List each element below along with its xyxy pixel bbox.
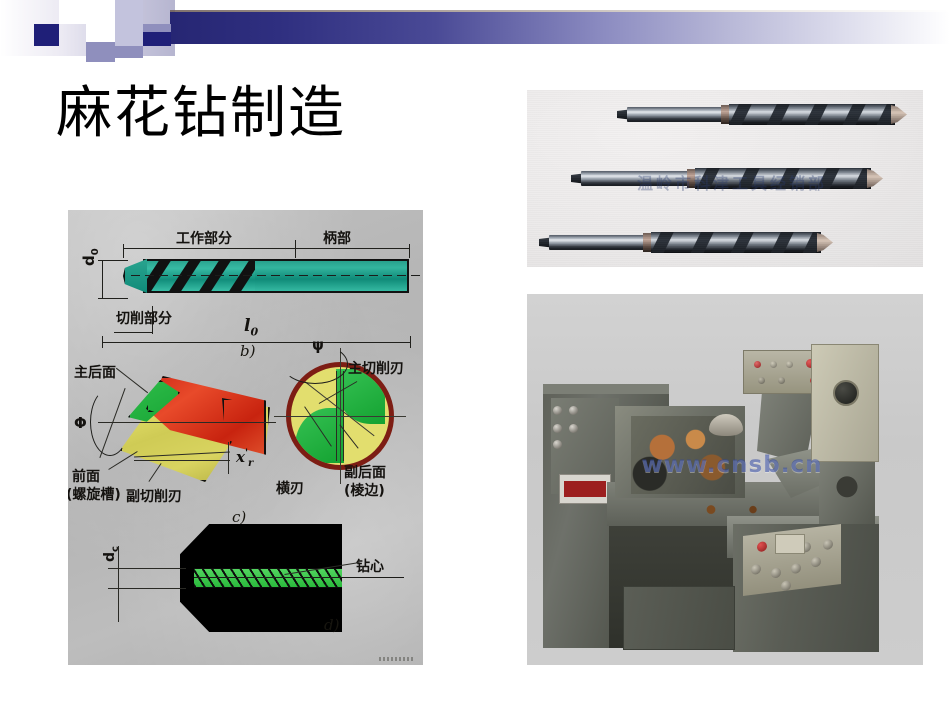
label-l0: l0: [244, 316, 258, 338]
label-d0-sub: 0: [90, 248, 101, 255]
drill-twist-groove: [771, 168, 804, 189]
label-minor-cutting-edge: 副切削刃: [126, 486, 182, 506]
label-major-flank: 主后面: [74, 362, 116, 382]
dimline-working-part: [123, 248, 295, 249]
label-minor-edge-angle: x'r: [236, 448, 253, 469]
dimline-shank: [295, 248, 409, 249]
dimtick-l0-right: [410, 336, 411, 348]
header-gradient-bar: [170, 12, 950, 44]
header-decoration: [0, 0, 950, 70]
label-working-part: 工作部分: [176, 228, 232, 248]
drill-twist-groove: [811, 168, 844, 189]
machine-cabinet-dial: [833, 380, 859, 406]
label-major-cutting-edge: 主切削刃: [348, 358, 404, 378]
label-drill-core: 钻心: [356, 556, 384, 576]
machine-access-door: [623, 586, 735, 650]
label-d0: d0: [80, 248, 101, 266]
scan-artifact-text: [379, 657, 415, 661]
machine-control-button: [778, 377, 785, 384]
header-square-navy: [34, 24, 59, 46]
machine-control-button: [770, 361, 777, 368]
twist-drill-item: [539, 232, 837, 253]
machine-control-button: [754, 361, 761, 368]
technical-figure-scan: 工作部分 柄部 d0 切削部分: [68, 210, 423, 665]
machine-tailstock: [819, 462, 875, 524]
machine-left-base-top: [543, 384, 669, 394]
machine-operator-button: [791, 563, 801, 574]
caption-d: d): [324, 616, 339, 634]
drill-twist-groove: [729, 104, 756, 125]
drill-twist-groove: [731, 168, 764, 189]
dimtick-l0-left: [102, 336, 103, 348]
label-web-angle: ψ: [312, 336, 324, 354]
drill-point: [867, 169, 883, 188]
drill-fluted-body: [695, 168, 871, 189]
drill-point: [891, 105, 907, 124]
label-d0-main: d: [80, 255, 98, 266]
drill-centre-axis: [131, 275, 423, 276]
drill-twist-groove: [799, 104, 832, 125]
machine-operator-button-red: [757, 541, 767, 552]
dimtick-d0-top: [98, 260, 128, 261]
drill-twist-groove: [651, 232, 678, 253]
label-cutting-part: 切削部分: [116, 308, 172, 328]
machine-knob: [569, 424, 578, 433]
dimline-cutting-part: [114, 332, 152, 333]
drill-tip-3d-view: [110, 370, 275, 490]
machine-knob: [553, 424, 562, 433]
label-dc: dc: [102, 546, 121, 562]
machine-knob: [553, 406, 562, 415]
drill-collar: [721, 105, 729, 124]
dimline-l0: [102, 342, 410, 343]
machine-control-button: [786, 361, 793, 368]
machine-operator-button: [823, 539, 833, 550]
drill-shank-region: [252, 259, 409, 293]
drill-twist-groove: [837, 104, 870, 125]
label-rake-face: 前面: [72, 466, 100, 486]
header-square-mid-b: [115, 46, 143, 58]
label-rake-face-alt: (螺旋槽): [68, 484, 121, 504]
drill-fluted-body: [651, 232, 821, 253]
machine-operator-selector-box: [775, 534, 805, 554]
drill-shank: [627, 107, 723, 122]
drill-flute-region: [143, 259, 255, 293]
machine-operator-button: [811, 556, 821, 567]
figure-content-layer: 工作部分 柄部 d0 切削部分: [68, 210, 423, 665]
drill-collar: [643, 233, 651, 252]
machine-operator-button: [751, 564, 761, 575]
drill-core-view: [180, 524, 342, 632]
drill-twist-groove: [725, 232, 758, 253]
drill-shank: [549, 235, 645, 250]
label-minor-flank-alt: (棱边): [344, 480, 385, 500]
machine-knob: [569, 406, 578, 415]
drill-photo: 温岭市科津工具经销部: [527, 90, 923, 267]
drill-tip-outline: [123, 259, 148, 293]
dimline-minor-edge-a: [134, 460, 230, 461]
dimline-d0: [102, 260, 103, 298]
label-dc-sub: c: [110, 546, 121, 552]
twist-drill-item: [617, 104, 909, 125]
label-xr-main: x: [236, 448, 245, 466]
label-chisel-edge: 横刃: [276, 478, 304, 498]
dimtick-minor-edge: [228, 442, 229, 474]
core-centerline: [194, 577, 404, 578]
caption-b: b): [240, 342, 255, 360]
header-square-light-b: [115, 24, 143, 46]
core-hatched-band: [194, 568, 342, 588]
machine-knob: [553, 440, 562, 449]
page-title: 麻花钻制造: [56, 86, 346, 142]
drill-collar: [687, 169, 695, 188]
machine-nameplate-red-label: [564, 481, 606, 497]
drill-side-view: [123, 256, 409, 296]
phi-angle-arc: [90, 388, 130, 456]
drill-shank: [581, 171, 689, 186]
dimtick-d0-bottom: [98, 298, 128, 299]
header-square-navy-b: [143, 32, 171, 46]
machine-left-knob-cluster: [553, 406, 583, 452]
drill-twist-groove: [685, 232, 718, 253]
label-dc-main: d: [102, 552, 118, 562]
drill-point: [817, 233, 833, 252]
label-minor-flank: 副后面: [344, 462, 386, 482]
machine-nameplate: [559, 474, 611, 504]
twist-drill-item: [571, 168, 887, 189]
machine-control-button: [758, 377, 765, 384]
header-square-white-a: [59, 0, 115, 24]
drill-twist-groove: [765, 232, 798, 253]
dimtick-dc-bottom: [108, 588, 186, 589]
drill-fluted-body: [729, 104, 895, 125]
label-l0-sub: 0: [250, 325, 258, 338]
header-square-mid-c: [86, 42, 115, 62]
label-shank: 柄部: [323, 228, 351, 248]
label-xr-sub: r: [248, 458, 253, 469]
dimtick-b-right: [409, 244, 410, 258]
drill-twist-groove: [695, 168, 724, 189]
header-square-light-a: [115, 0, 143, 24]
machine-operator-button: [771, 567, 781, 578]
label-point-angle: Φ: [74, 414, 87, 432]
machine-operator-button: [781, 580, 791, 591]
drill-twist-groove: [761, 104, 794, 125]
machine-photo: www.cnsb.cn: [527, 294, 923, 665]
dimtick-dc-top: [108, 568, 186, 569]
